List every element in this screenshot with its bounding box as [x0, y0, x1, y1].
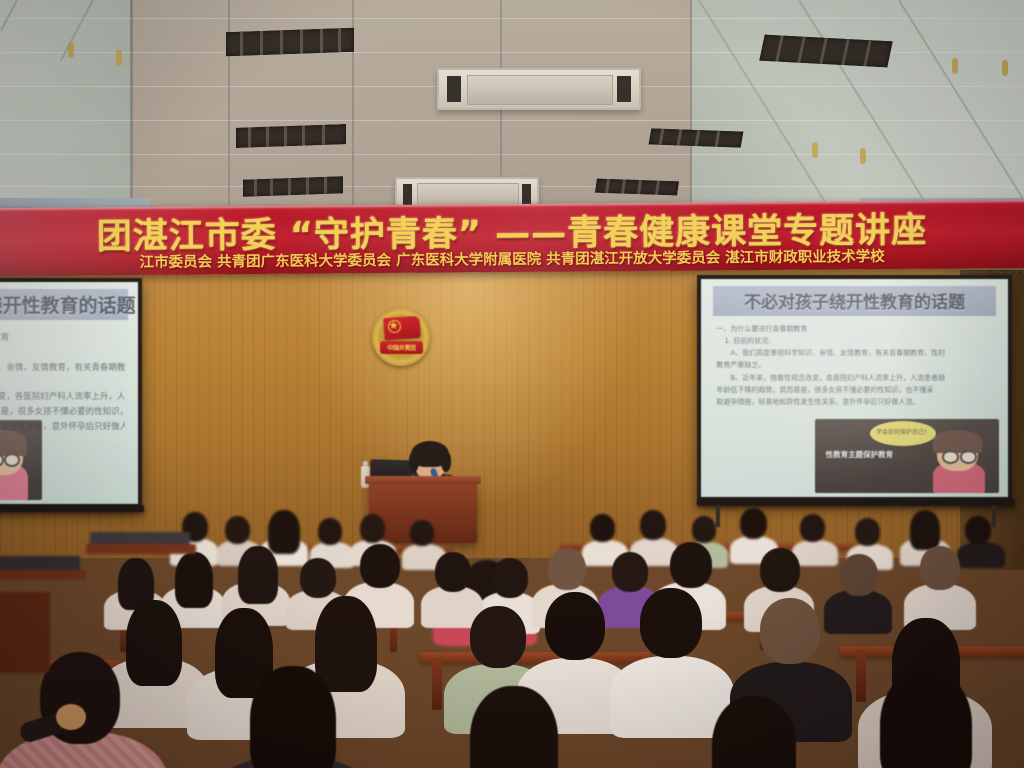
ceiling-seam	[690, 0, 692, 208]
ac-vent-slot	[617, 76, 631, 102]
side-desk-top	[0, 570, 86, 580]
podium-top	[365, 476, 481, 484]
ceiling-vent	[243, 176, 343, 196]
bench-slat	[420, 652, 650, 663]
ceiling-seam	[0, 120, 1024, 121]
screen-glare-right	[701, 279, 1008, 497]
ac-vent-slot	[522, 184, 532, 205]
emblem-band-text: 中国共青团	[380, 341, 423, 354]
ceiling-hook	[952, 58, 958, 74]
air-conditioner-unit	[437, 68, 641, 110]
projection-screen-left: 不必对孩子绕开性教育的话题 一、为什么要进行青春期教育 1. 目前的状况: A、…	[0, 278, 142, 510]
ceiling-vent	[649, 128, 744, 147]
ac-grille	[467, 75, 613, 104]
ac-vent-slot	[403, 184, 413, 205]
ceiling-seam	[0, 18, 1024, 19]
stage-light-glow	[300, 262, 640, 512]
side-desk-body	[0, 592, 50, 672]
audience	[0, 500, 1024, 768]
ceiling-panel-right	[692, 0, 1024, 208]
ac-vent-slot	[447, 76, 461, 102]
ceiling-vent	[595, 179, 679, 196]
ceiling-hook	[1002, 60, 1008, 76]
ceiling-hook	[860, 148, 866, 164]
screen-surface-right: 不必对孩子绕开性教育的话题 一、为什么要进行青春期教育 1. 目前的状况: A、…	[701, 279, 1008, 497]
bench-post	[432, 658, 442, 710]
ceiling-hook	[812, 142, 818, 158]
communist-youth-league-emblem: ★ 中国共青团	[372, 308, 430, 366]
ceiling-seam	[0, 154, 1024, 155]
auditorium-photo: auditorium-lecture-photo 团湛江市委 “守护青春” ——…	[0, 0, 1024, 768]
star-icon: ★	[388, 320, 399, 331]
bench-post	[856, 650, 866, 702]
projection-screen-right: 不必对孩子绕开性教育的话题 一、为什么要进行青春期教育 1. 目前的状况: A、…	[697, 275, 1012, 503]
ceiling-hook	[116, 50, 122, 66]
screen-surface-left: 不必对孩子绕开性教育的话题 一、为什么要进行青春期教育 1. 目前的状况: A、…	[0, 282, 138, 504]
screen-glare-left	[0, 282, 138, 504]
ceiling-hook	[68, 42, 74, 58]
speaker-hair-side	[409, 452, 419, 472]
side-desk-top	[86, 544, 196, 554]
hair-bun	[56, 704, 86, 730]
ceiling-panel-left	[0, 0, 132, 208]
speaker-hair-side	[441, 452, 451, 472]
event-banner: 团湛江市委 “守护青春” ——青春健康课堂专题讲座 江市委员会 共青团广东医科大…	[0, 200, 1024, 276]
ceiling-vent	[236, 124, 346, 148]
ceiling	[0, 0, 1024, 208]
ceiling-vent	[226, 28, 354, 56]
ceiling-seam	[131, 0, 133, 208]
